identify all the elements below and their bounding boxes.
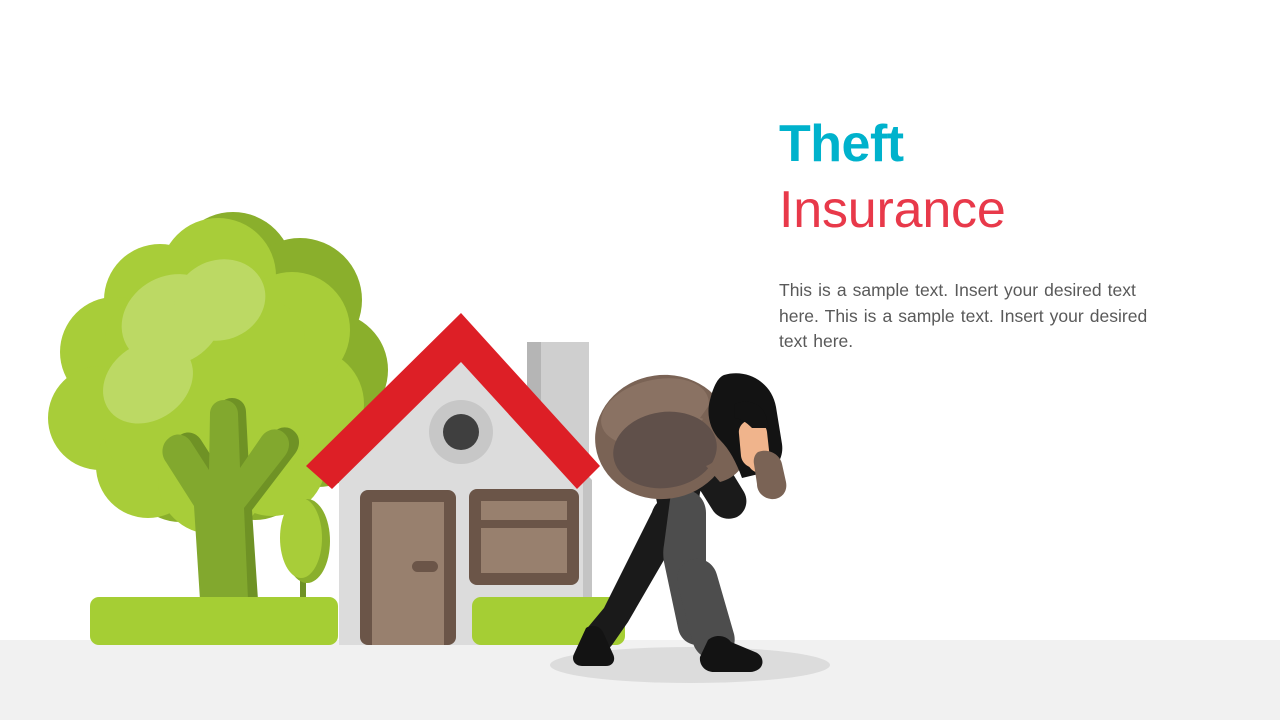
title-primary: Theft — [779, 118, 1199, 170]
shrub-leaf — [280, 498, 322, 578]
illustration-house-theft-scene — [0, 0, 900, 720]
lawn-left — [90, 597, 338, 645]
window-pane-top — [481, 501, 567, 520]
window-pane-bottom — [481, 528, 567, 573]
thief-group — [573, 366, 786, 672]
text-block: Theft Insurance This is a sample text. I… — [779, 118, 1199, 355]
shrub-group — [280, 498, 330, 604]
attic-vent-inner — [443, 414, 479, 450]
body-paragraph: This is a sample text. Insert your desir… — [779, 278, 1169, 355]
slide-canvas: Theft Insurance This is a sample text. I… — [0, 0, 1280, 720]
door-handle — [412, 561, 438, 572]
sack-strap — [754, 451, 787, 499]
window-group — [469, 489, 579, 585]
door-group — [360, 490, 456, 645]
title-secondary: Insurance — [779, 184, 1199, 236]
tree-group — [48, 212, 388, 600]
door-panel — [372, 502, 444, 645]
